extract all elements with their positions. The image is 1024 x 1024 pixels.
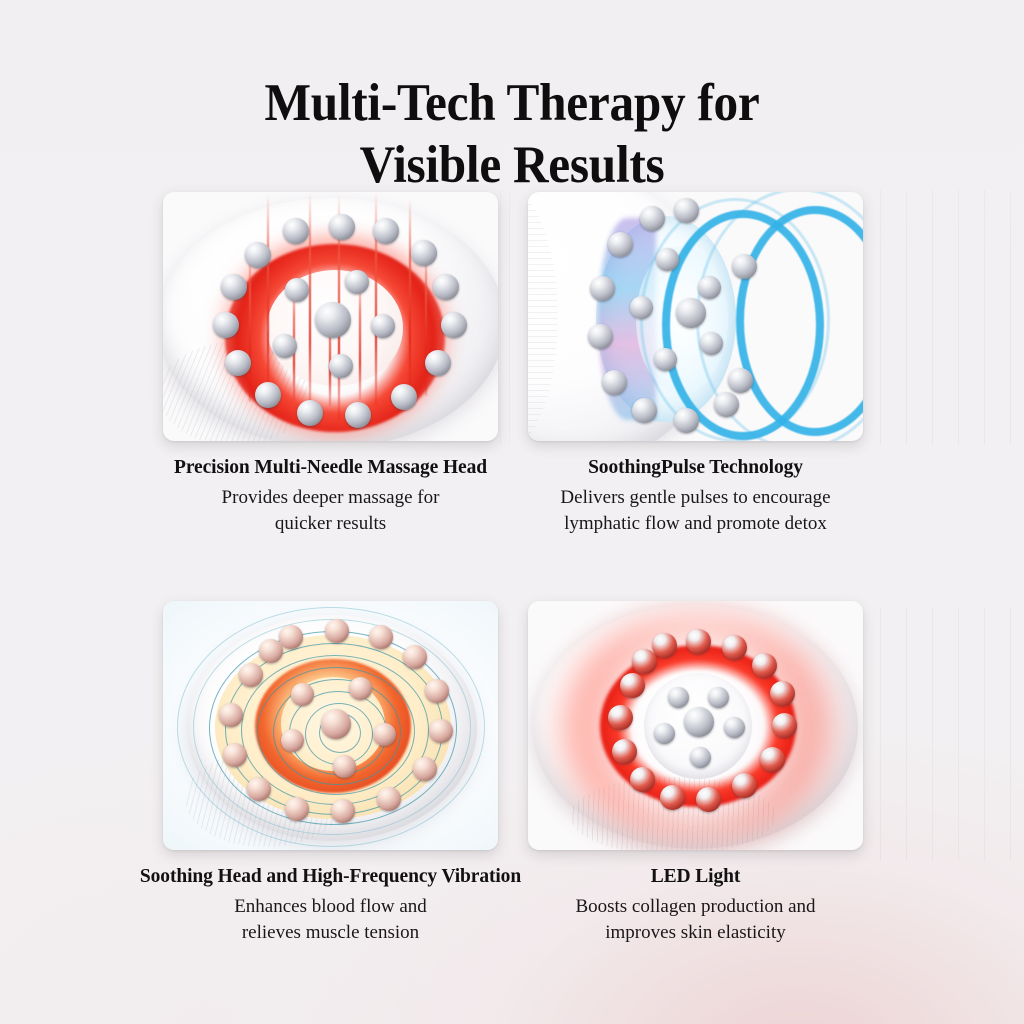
- soothing-pulse-blue-rings-photo: [528, 192, 863, 441]
- feature-title: Soothing Head and High-Frequency Vibrati…: [129, 864, 532, 890]
- feature-soothing-head-high-frequency-vibration: Soothing Head and High-Frequency Vibrati…: [163, 601, 498, 946]
- page-title: Multi-Tech Therapy for Visible Results: [36, 72, 988, 196]
- feature-description: Delivers gentle pulses to encourage lymp…: [528, 485, 863, 537]
- background-stripe-texture-bottom-right: [880, 608, 1024, 861]
- feature-title: LED Light: [528, 864, 863, 890]
- feature-description: Enhances blood flow and relieves muscle …: [163, 894, 498, 946]
- led-light-red-glow-photo: [528, 601, 863, 850]
- massage-head-red-needles-photo: [163, 192, 498, 441]
- feature-description: Provides deeper massage for quicker resu…: [163, 485, 498, 537]
- feature-led-light: LED Light Boosts collagen production and…: [528, 601, 863, 946]
- feature-caption: LED Light Boosts collagen production and…: [528, 864, 863, 946]
- feature-caption: Precision Multi-Needle Massage Head Prov…: [163, 455, 498, 537]
- feature-grid: Precision Multi-Needle Massage Head Prov…: [163, 192, 863, 946]
- feature-description: Boosts collagen production and improves …: [528, 894, 863, 946]
- feature-caption: Soothing Head and High-Frequency Vibrati…: [163, 864, 498, 946]
- feature-precision-multi-needle-massage-head: Precision Multi-Needle Massage Head Prov…: [163, 192, 498, 537]
- feature-title: Precision Multi-Needle Massage Head: [163, 455, 498, 481]
- feature-caption: SoothingPulse Technology Delivers gentle…: [528, 455, 863, 537]
- feature-title: SoothingPulse Technology: [528, 455, 863, 481]
- feature-soothingpulse-technology: SoothingPulse Technology Delivers gentle…: [528, 192, 863, 537]
- vibration-spiral-waves-photo: [163, 601, 498, 850]
- background-stripe-texture-top-right: [880, 190, 1024, 445]
- infographic-page: Multi-Tech Therapy for Visible Results: [0, 0, 1024, 1024]
